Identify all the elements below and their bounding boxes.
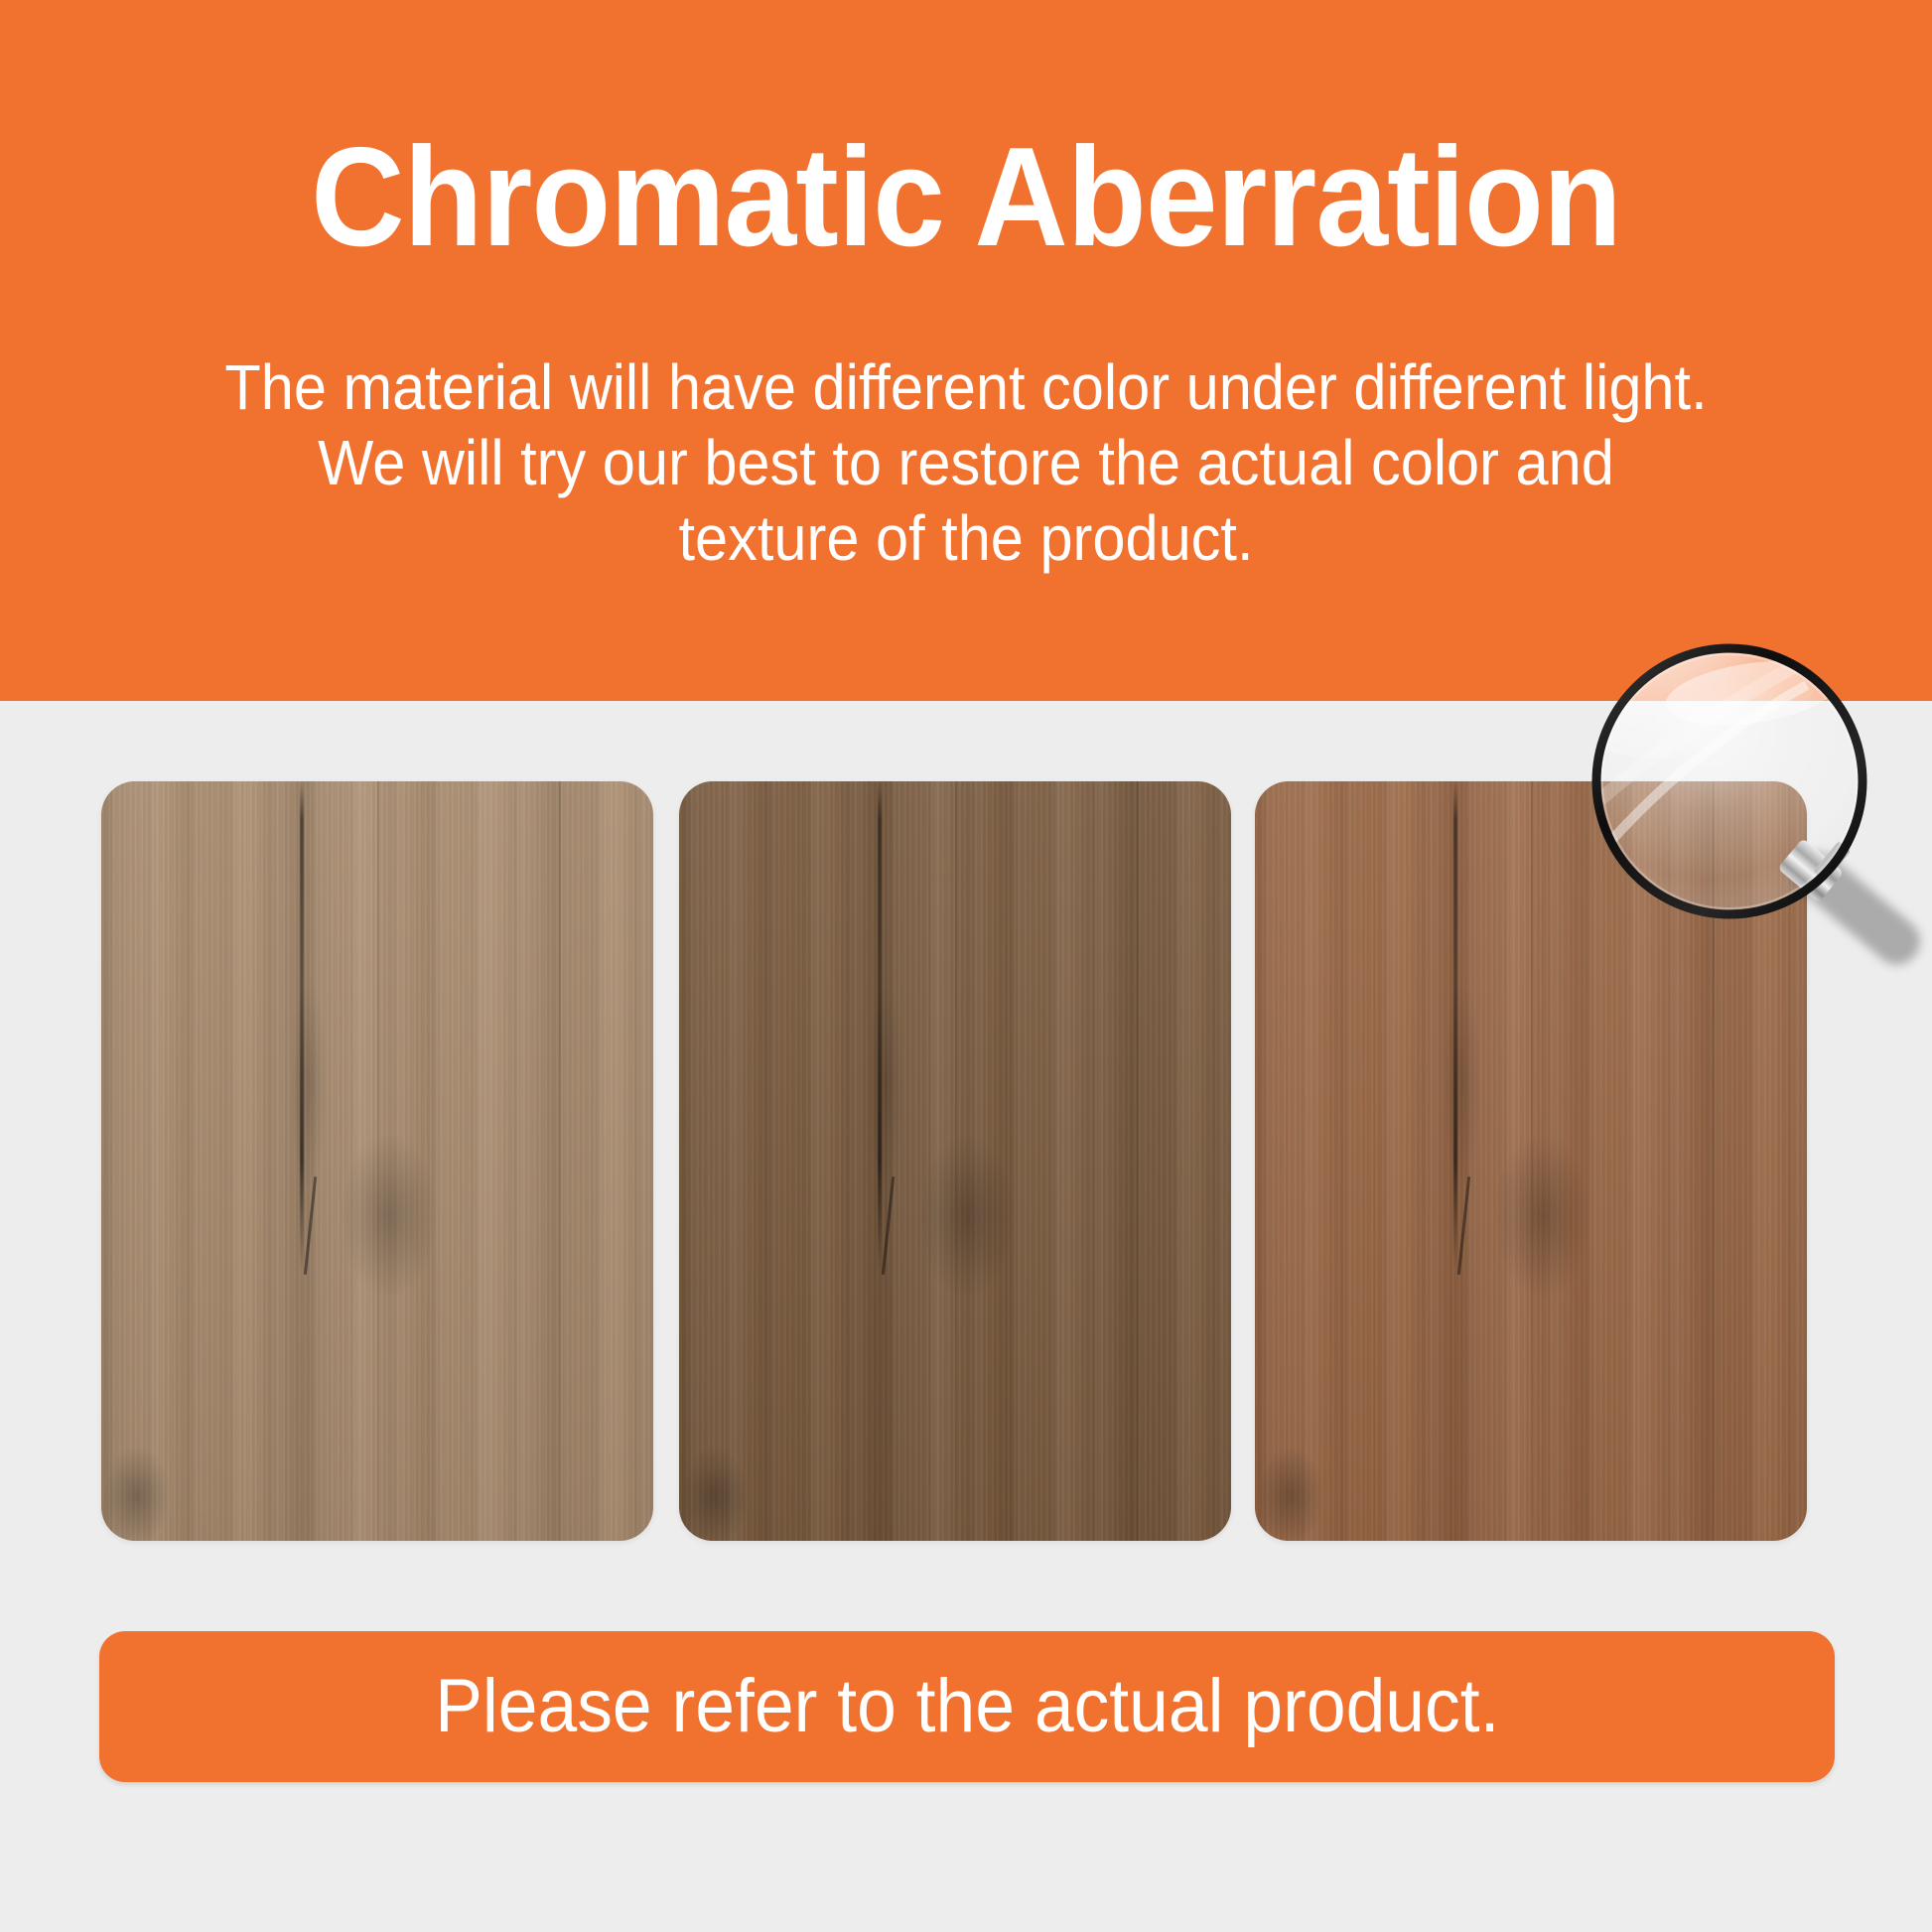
page-title: Chromatic Aberration: [77, 127, 1855, 268]
plank-seam: [955, 781, 957, 1541]
promo-infographic: Chromatic Aberration The material will h…: [0, 0, 1932, 1932]
wood-grain-crack: [878, 781, 882, 1268]
banner-subtitle: The material will have different color u…: [135, 349, 1797, 576]
wood-grain-crack: [1456, 1176, 1469, 1275]
plank-seam: [377, 781, 379, 1541]
subtitle-line-1: The material will have different color u…: [135, 349, 1797, 425]
wood-grain-crack: [881, 1176, 894, 1275]
magnifying-glass-icon: [1549, 596, 1932, 993]
plank-seam: [1531, 781, 1533, 1541]
plank-seam: [1137, 781, 1139, 1541]
wood-grain-crack: [1453, 781, 1457, 1268]
refer-to-actual-product-button[interactable]: Please refer to the actual product.: [99, 1631, 1835, 1782]
wood-sample-dark[interactable]: [679, 781, 1231, 1541]
plank-seam: [559, 781, 561, 1541]
magnifier-lens: [1568, 622, 1860, 911]
wood-texture-dark: [679, 781, 1231, 1541]
wood-grain-crack: [300, 781, 304, 1268]
refer-to-actual-product-label: Please refer to the actual product.: [435, 1669, 1499, 1744]
subtitle-line-3: texture of the product.: [135, 500, 1797, 576]
wood-texture-light: [101, 781, 653, 1541]
subtitle-line-2: We will try our best to restore the actu…: [135, 425, 1797, 500]
wood-sample-light[interactable]: [101, 781, 653, 1541]
wood-grain-crack: [303, 1176, 316, 1275]
